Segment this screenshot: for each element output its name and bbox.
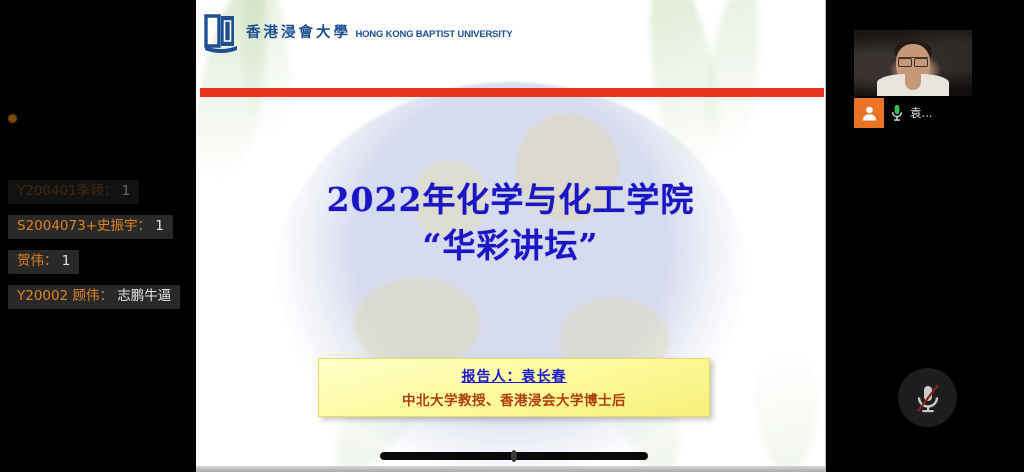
person-icon (854, 98, 884, 128)
speaker-affiliation: 中北大学教授、香港浸会大学博士后 (402, 389, 626, 409)
chat-message-sender: S2004073+史振宇： (17, 218, 151, 234)
chat-message-sender: Y20002 顾伟： (17, 288, 113, 304)
chat-overlay: Y200401季颖： 1S2004073+史振宇： 1贺伟： 1Y20002 顾… (0, 180, 196, 320)
participant-video-feed[interactable] (854, 30, 972, 96)
slide-bottom-edge (196, 466, 825, 472)
participant-tile[interactable]: 袁... (854, 30, 972, 128)
participant-name-strip[interactable]: 袁... (854, 98, 972, 128)
chat-message-text: 1 (58, 253, 71, 269)
chat-message-sender: Y200401季颖： (17, 183, 117, 199)
logo-chinese-name: 香港浸會大學 (246, 25, 351, 41)
annotation-stroke[interactable] (380, 452, 648, 460)
reaction-dot-icon (8, 114, 17, 123)
participant-shirt (877, 74, 949, 96)
accent-divider (200, 88, 824, 97)
speaker-info-box: 报告人：袁长春 中北大学教授、香港浸会大学博士后 (318, 358, 710, 417)
shared-presentation-slide[interactable]: 香港浸會大學 HONG KONG BAPTIST UNIVERSITY 2022… (196, 0, 826, 472)
chat-message-text: 1 (151, 218, 164, 234)
logo-english-name: HONG KONG BAPTIST UNIVERSITY (355, 29, 512, 40)
slide-subtitle: “华彩讲坛” (196, 224, 825, 268)
chat-message: S2004073+史振宇： 1 (8, 215, 173, 239)
university-logo: 香港浸會大學 HONG KONG BAPTIST UNIVERSITY (204, 12, 512, 54)
chat-message-text: 1 (117, 183, 130, 199)
screen-share-stage: 香港浸會大學 HONG KONG BAPTIST UNIVERSITY 2022… (0, 0, 1024, 472)
chat-message: Y200401季颖： 1 (8, 180, 139, 204)
chat-message: 贺伟： 1 (8, 250, 79, 274)
chat-message-text: 志鹏牛逼 (113, 288, 171, 304)
mute-button[interactable] (898, 368, 957, 427)
glasses-icon (898, 57, 928, 64)
chat-message: Y20002 顾伟： 志鹏牛逼 (8, 285, 180, 309)
chat-message-sender: 贺伟： (17, 253, 58, 269)
participant-name-label: 袁... (910, 105, 932, 121)
open-book-logo-icon (204, 12, 238, 54)
leaf-decoration-icon (698, 0, 768, 152)
microphone-muted-icon (913, 382, 943, 414)
microphone-on-icon (891, 104, 903, 122)
leaf-decoration-icon (751, 350, 823, 472)
slide-title: 2022年化学与化工学院 (196, 178, 825, 222)
speaker-name: 报告人：袁长春 (462, 366, 567, 386)
